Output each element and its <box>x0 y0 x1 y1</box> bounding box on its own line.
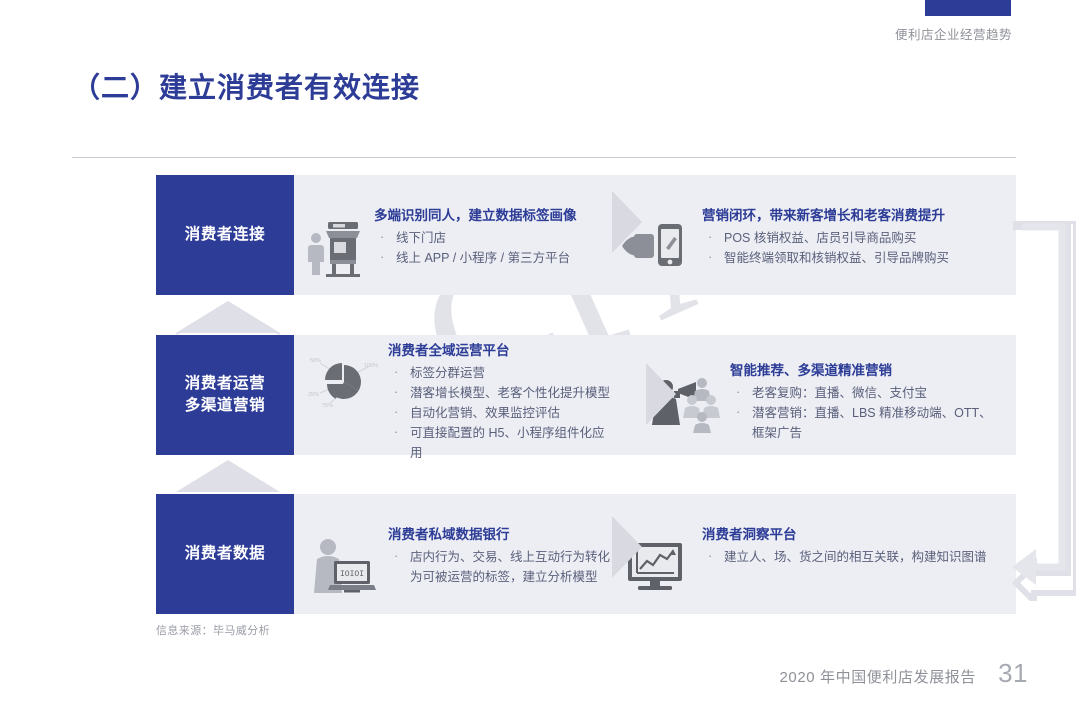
header-accent-bar <box>925 0 1011 16</box>
cell-title: 消费者私域数据银行 <box>388 525 614 545</box>
bullet-item: POS 核销权益、店员引导商品购买 <box>702 228 1002 248</box>
row3-right-text: 消费者洞察平台 建立人、场、货之间的相互关联，构建知识图谱 <box>702 525 1002 567</box>
connector-chevron-up-icon <box>176 299 280 335</box>
bullet-list: POS 核销权益、店员引导商品购买 智能终端领取和核销权益、引导品牌购买 <box>702 228 1002 268</box>
connector-chevron-up-icon <box>176 458 280 494</box>
cell-title: 多端识别同人，建立数据标签画像 <box>374 206 614 226</box>
flow-arrow-right-icon <box>612 191 642 253</box>
row1-right-cell: 营销闭环，带来新客增长和老客消费提升 POS 核销权益、店员引导商品购买 智能终… <box>614 192 1016 278</box>
bullet-item: 线下门店 <box>374 228 614 248</box>
loopback-arrow-icon <box>1012 221 1076 601</box>
cell-title: 消费者洞察平台 <box>702 525 1002 545</box>
bullet-item: 可直接配置的 H5、小程序组件化应用 <box>388 423 614 463</box>
bullet-item: 自动化营销、效果监控评估 <box>388 403 614 423</box>
bullet-item: 标签分群运营 <box>388 363 614 383</box>
cell-title: 营销闭环，带来新客增长和老客消费提升 <box>702 206 1002 226</box>
bullet-list: 标签分群运营 潜客增长模型、老客个性化提升模型 自动化营销、效果监控评估 可直接… <box>388 363 614 463</box>
bullet-item: 潜客增长模型、老客个性化提升模型 <box>388 383 614 403</box>
row-body: 50% 100% 25% 75% <box>294 335 1016 455</box>
slide-page: 便利店企业经营趋势 （二）建立消费者有效连接 CFA 消费者连接 <box>0 0 1080 722</box>
pie-label: 50% <box>310 358 321 364</box>
header-section-label: 便利店企业经营趋势 <box>895 24 1012 43</box>
row-label-text: 消费者连接 <box>185 224 266 246</box>
row3-left-cell: IOIOI 消费者私域数据银行 店内行为、交易、线上互动行为转化为可被运营的标签… <box>294 511 614 597</box>
source-note: 信息来源：毕马威分析 <box>156 622 270 638</box>
title-divider <box>72 157 1016 158</box>
row-body: IOIOI 消费者私域数据银行 店内行为、交易、线上互动行为转化为可被运营的标签… <box>294 494 1016 614</box>
storefront-icon <box>306 212 368 278</box>
flow-arrow-right-icon <box>612 516 642 578</box>
bullet-item: 智能终端领取和核销权益、引导品牌购买 <box>702 248 1002 268</box>
row1-left-cell: 多端识别同人，建立数据标签画像 线下门店 线上 APP / 小程序 / 第三方平… <box>294 192 614 278</box>
page-title: （二）建立消费者有效连接 <box>72 66 420 106</box>
bullet-list: 建立人、场、货之间的相互关联，构建知识图谱 <box>702 547 1002 567</box>
row-label-text: 消费者数据 <box>185 543 266 565</box>
bullet-item: 建立人、场、货之间的相互关联，构建知识图谱 <box>702 547 1002 567</box>
pie-label: 75% <box>322 403 333 409</box>
row-label-consumer-operation: 消费者运营 多渠道营销 <box>156 335 294 455</box>
row1-left-text: 多端识别同人，建立数据标签画像 线下门店 线上 APP / 小程序 / 第三方平… <box>374 206 614 268</box>
bullet-item: 潜客营销：直播、LBS 精准移动端、OTT、框架广告 <box>730 403 1002 443</box>
bullet-list: 店内行为、交易、线上互动行为转化为可被运营的标签，建立分析模型 <box>388 547 614 587</box>
bullet-item: 店内行为、交易、线上互动行为转化为可被运营的标签，建立分析模型 <box>388 547 614 587</box>
row2-right-text: 智能推荐、多渠道精准营销 老客复购：直播、微信、支付宝 潜客营销：直播、LBS … <box>730 361 1002 443</box>
row-label-text-line1: 消费者运营 <box>185 373 266 395</box>
row-label-text-line2: 多渠道营销 <box>185 395 266 417</box>
diagram-row-consumer-operation: 消费者运营 多渠道营销 50% 100% <box>156 335 1016 455</box>
row2-left-text: 消费者全域运营平台 标签分群运营 潜客增长模型、老客个性化提升模型 自动化营销、… <box>388 341 614 463</box>
bullet-list: 线下门店 线上 APP / 小程序 / 第三方平台 <box>374 228 614 268</box>
bullet-list: 老客复购：直播、微信、支付宝 潜客营销：直播、LBS 精准移动端、OTT、框架广… <box>730 383 1002 443</box>
row3-right-cell: 消费者洞察平台 建立人、场、货之间的相互关联，构建知识图谱 <box>614 511 1016 597</box>
pie-label: 25% <box>308 392 319 398</box>
diagram-row-consumer-connection: 消费者连接 <box>156 175 1016 295</box>
diagram-row-consumer-data: 消费者数据 IOIOI <box>156 494 1016 614</box>
bullet-item: 老客复购：直播、微信、支付宝 <box>730 383 1002 403</box>
row3-left-text: 消费者私域数据银行 店内行为、交易、线上互动行为转化为可被运营的标签，建立分析模… <box>388 525 614 587</box>
footer-page-number: 31 <box>998 658 1028 689</box>
row-body: 多端识别同人，建立数据标签画像 线下门店 线上 APP / 小程序 / 第三方平… <box>294 175 1016 295</box>
svg-text:IOIOI: IOIOI <box>340 570 364 579</box>
cell-title: 消费者全域运营平台 <box>388 341 614 361</box>
footer-report-name: 2020 年中国便利店发展报告 <box>779 666 976 687</box>
person-laptop-icon: IOIOI <box>306 531 382 597</box>
row-label-consumer-data: 消费者数据 <box>156 494 294 614</box>
row1-right-text: 营销闭环，带来新客增长和老客消费提升 POS 核销权益、店员引导商品购买 智能终… <box>702 206 1002 268</box>
row2-left-cell: 50% 100% 25% 75% <box>294 327 614 463</box>
cell-title: 智能推荐、多渠道精准营销 <box>730 361 1002 381</box>
pie-chart-icon: 50% 100% 25% 75% <box>306 347 382 413</box>
consumer-connection-diagram: 消费者连接 <box>156 175 1016 615</box>
row-label-consumer-connection: 消费者连接 <box>156 175 294 295</box>
flow-arrow-right-icon <box>646 363 676 425</box>
pie-label: 100% <box>364 363 378 369</box>
bullet-item: 线上 APP / 小程序 / 第三方平台 <box>374 248 614 268</box>
